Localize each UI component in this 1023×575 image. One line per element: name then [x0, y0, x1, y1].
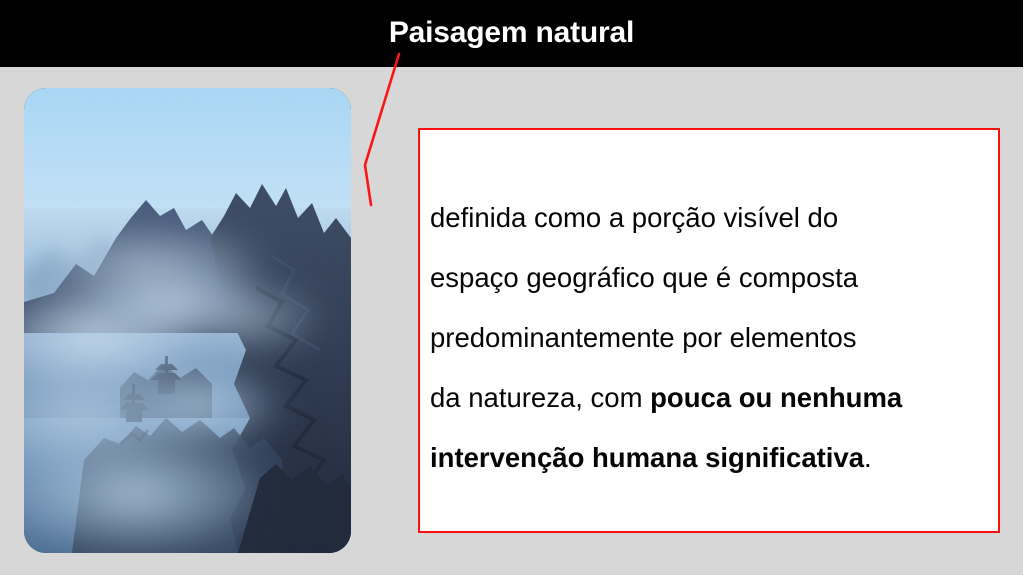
landscape-photo — [24, 88, 351, 553]
red-arrow-line — [350, 45, 420, 220]
page-title: Paisagem natural — [0, 14, 1023, 52]
definition-line-1: definida como a porção visível do — [430, 188, 992, 248]
definition-line-5-tail: . — [864, 442, 872, 473]
definition-line-4-bold: pouca ou nenhuma — [650, 382, 902, 413]
definition-line-3: predominantemente por elementos — [430, 308, 992, 368]
definition-line-4: da natureza, com pouca ou nenhuma — [430, 368, 992, 428]
definition-line-2: espaço geográfico que é composta — [430, 248, 992, 308]
title-banner: Paisagem natural — [0, 0, 1023, 67]
definition-line-5: intervenção humana significativa. — [430, 428, 992, 488]
definition-textbox: definida como a porção visível do espaço… — [418, 128, 1000, 533]
definition-line-5-bold: intervenção humana significativa — [430, 442, 864, 473]
definition-text: definida como a porção visível do espaço… — [430, 188, 992, 488]
landscape-photo-graphic — [24, 88, 351, 553]
definition-line-4-normal: da natureza, com — [430, 382, 650, 413]
